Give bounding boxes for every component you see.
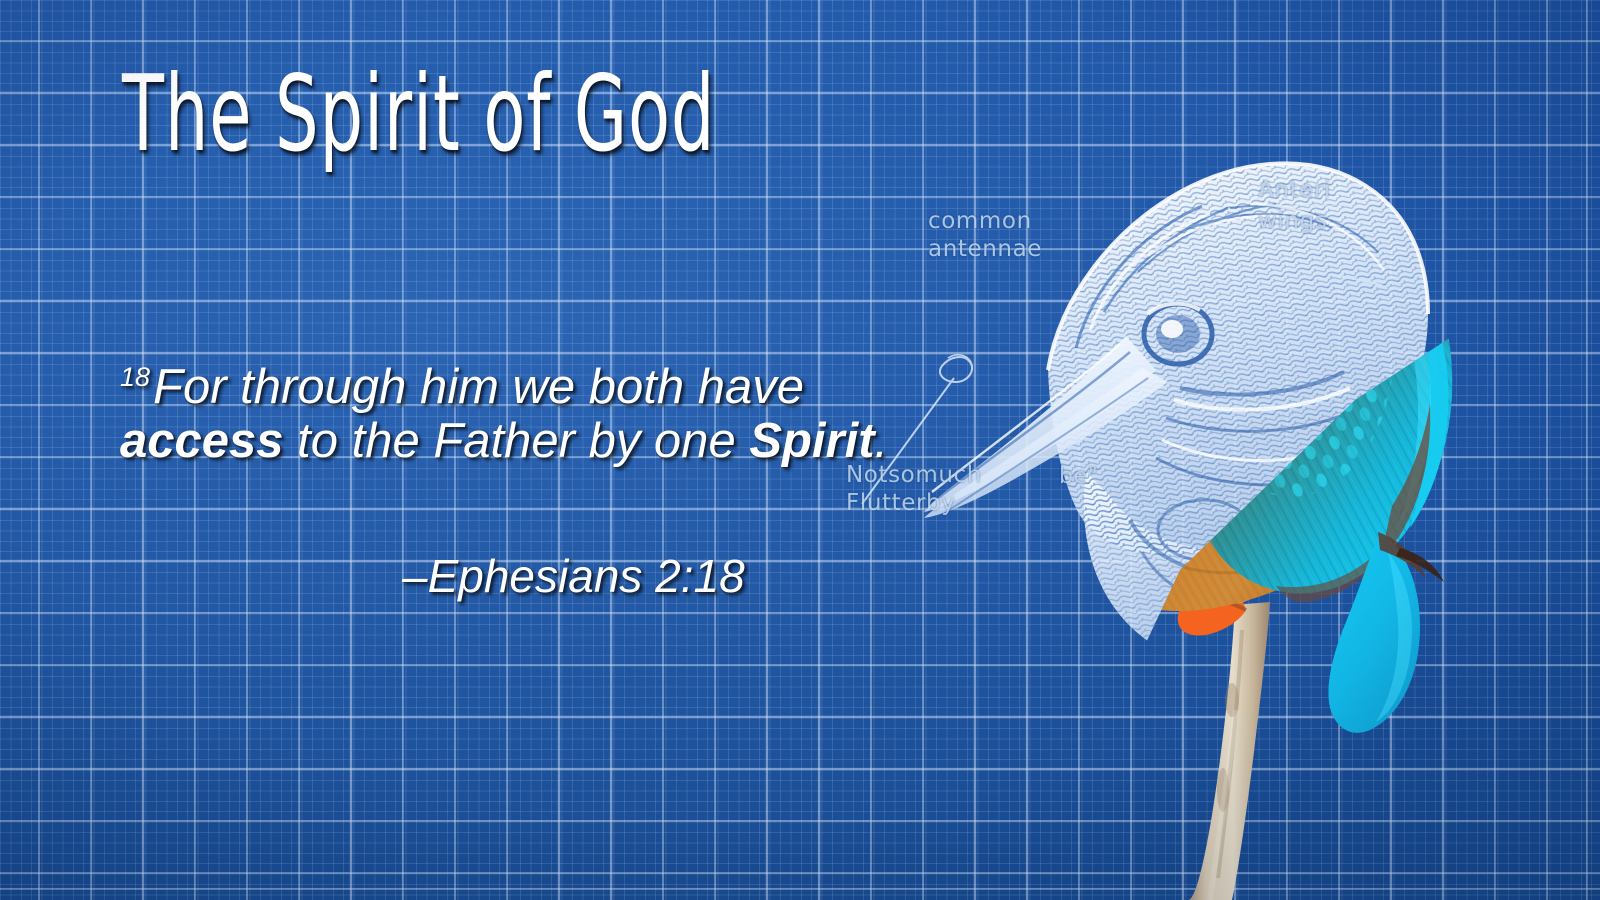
slide-canvas: common antennae Anteri wings Notsomuch F… bbox=[0, 0, 1600, 900]
scripture-text: 18For through him we both have access to… bbox=[120, 360, 900, 469]
annotation-line: antennae bbox=[928, 235, 1042, 263]
verse-segment-2: to the Father by one bbox=[284, 414, 750, 468]
annotation-underline bbox=[1258, 205, 1348, 206]
annotation-common-antennae: common antennae bbox=[928, 207, 1042, 263]
annotation-notsomuch-flutterby: Notsomuch Flutterby bbox=[846, 461, 982, 517]
page-title: The Spirit of God bbox=[122, 62, 715, 167]
verse-emphasis-access: access bbox=[120, 414, 284, 468]
annotation-line: common bbox=[928, 207, 1042, 235]
verse-segment-3: . bbox=[875, 414, 889, 468]
verse-number: 18 bbox=[120, 362, 150, 392]
verse-segment-1: For through him we both have bbox=[153, 360, 804, 414]
annotation-be: be" bbox=[1059, 464, 1098, 491]
verse-emphasis-spirit: Spirit bbox=[749, 414, 874, 468]
annotation-line: Flutterby bbox=[846, 489, 982, 517]
scripture-citation: –Ephesians 2:18 bbox=[402, 549, 745, 603]
annotation-line: Anteri bbox=[1258, 176, 1348, 204]
annotation-anterior-wings: Anteri wings bbox=[1258, 176, 1348, 235]
annotation-line: wings bbox=[1258, 207, 1348, 235]
